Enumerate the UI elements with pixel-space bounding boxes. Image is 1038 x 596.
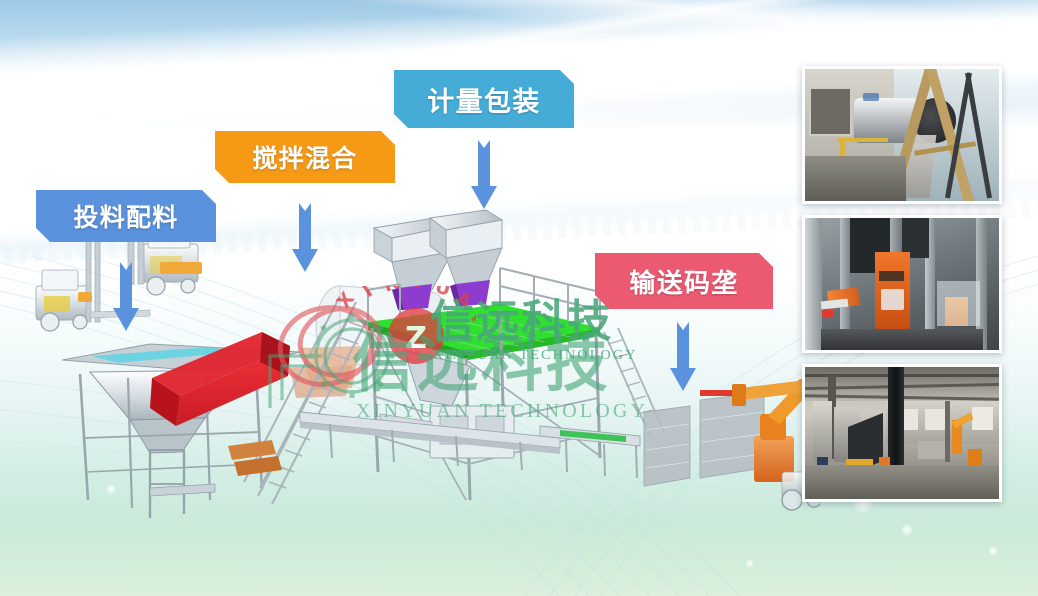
bokeh-dot [745, 559, 754, 568]
arrow-down-icon [470, 140, 498, 210]
photo-packaging-image [805, 218, 999, 350]
photo-packaging[interactable] [802, 215, 1002, 353]
production-line-3d-render [0, 200, 820, 540]
arrow-step-4 [669, 322, 697, 392]
process-step-3-label[interactable]: 计量包装 [394, 70, 574, 128]
bokeh-dot [988, 546, 998, 556]
process-step-1-text: 投料配料 [73, 198, 178, 234]
process-step-4-text: 输送码垄 [629, 263, 738, 300]
process-step-2-text: 搅拌混合 [252, 139, 357, 175]
arrow-step-2 [291, 203, 319, 273]
arrow-step-1 [112, 262, 140, 332]
process-flow-diagram: Z X I N Y U A N [0, 0, 1038, 596]
process-step-1-label[interactable]: 投料配料 [36, 190, 216, 242]
photo-mixer[interactable] [802, 66, 1002, 204]
photo-mixer-image [805, 69, 999, 201]
process-step-3-text: 计量包装 [427, 80, 540, 119]
photo-workshop[interactable] [802, 364, 1002, 502]
photo-workshop-image [805, 367, 999, 499]
process-step-4-label[interactable]: 输送码垄 [595, 253, 773, 309]
arrow-down-icon [112, 262, 140, 332]
arrow-down-icon [291, 203, 319, 273]
arrow-down-icon [669, 322, 697, 392]
bokeh-dot [901, 524, 913, 536]
arrow-step-3 [470, 140, 498, 210]
process-step-2-label[interactable]: 搅拌混合 [215, 131, 395, 183]
